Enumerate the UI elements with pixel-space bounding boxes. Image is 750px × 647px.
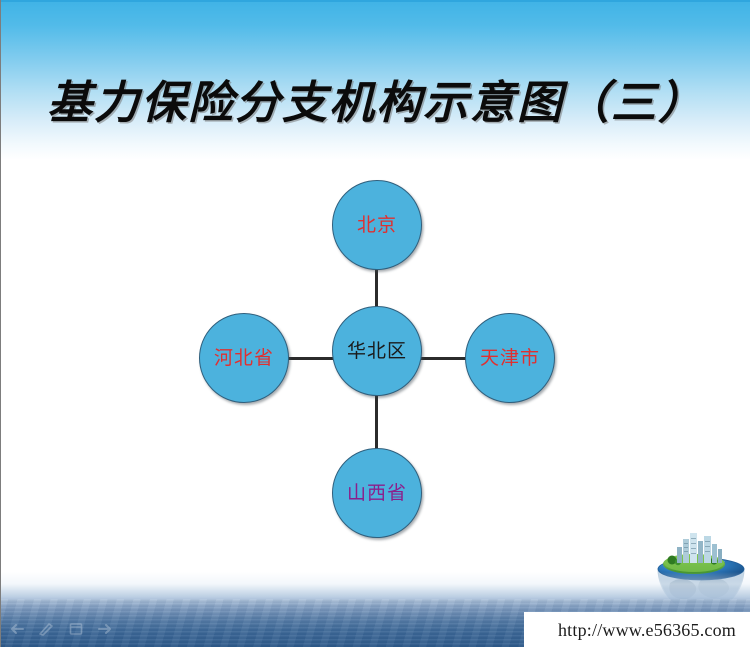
back-arrow-icon[interactable] <box>8 622 24 636</box>
node-hebei-label: 河北省 <box>214 349 274 368</box>
org-chart-diagram: 北京 河北省 华北区 天津市 山西省 <box>1 0 750 647</box>
node-tianjin-label: 天津市 <box>480 349 540 368</box>
node-huabei-center-label: 华北区 <box>347 342 407 361</box>
connector-center-to-east <box>419 357 467 360</box>
node-tianjin[interactable]: 天津市 <box>465 313 555 403</box>
node-shanxi[interactable]: 山西省 <box>332 448 422 538</box>
node-beijing[interactable]: 北京 <box>332 180 422 270</box>
page-icon[interactable] <box>68 622 84 636</box>
connector-center-to-south <box>375 394 378 450</box>
footer-url[interactable]: http://www.e56365.com <box>558 620 736 641</box>
connector-center-to-north <box>375 268 378 308</box>
presentation-slide: 基力保险分支机构示意图（三） 北京 河北省 华北区 天津市 山西省 <box>0 0 750 647</box>
node-huabei-center[interactable]: 华北区 <box>332 306 422 396</box>
connector-center-to-west <box>287 357 335 360</box>
node-hebei[interactable]: 河北省 <box>199 313 289 403</box>
slideshow-nav-controls[interactable] <box>8 622 114 636</box>
pen-icon[interactable] <box>38 622 54 636</box>
node-shanxi-label: 山西省 <box>347 484 407 503</box>
node-beijing-label: 北京 <box>357 216 397 235</box>
forward-arrow-icon[interactable] <box>98 622 114 636</box>
